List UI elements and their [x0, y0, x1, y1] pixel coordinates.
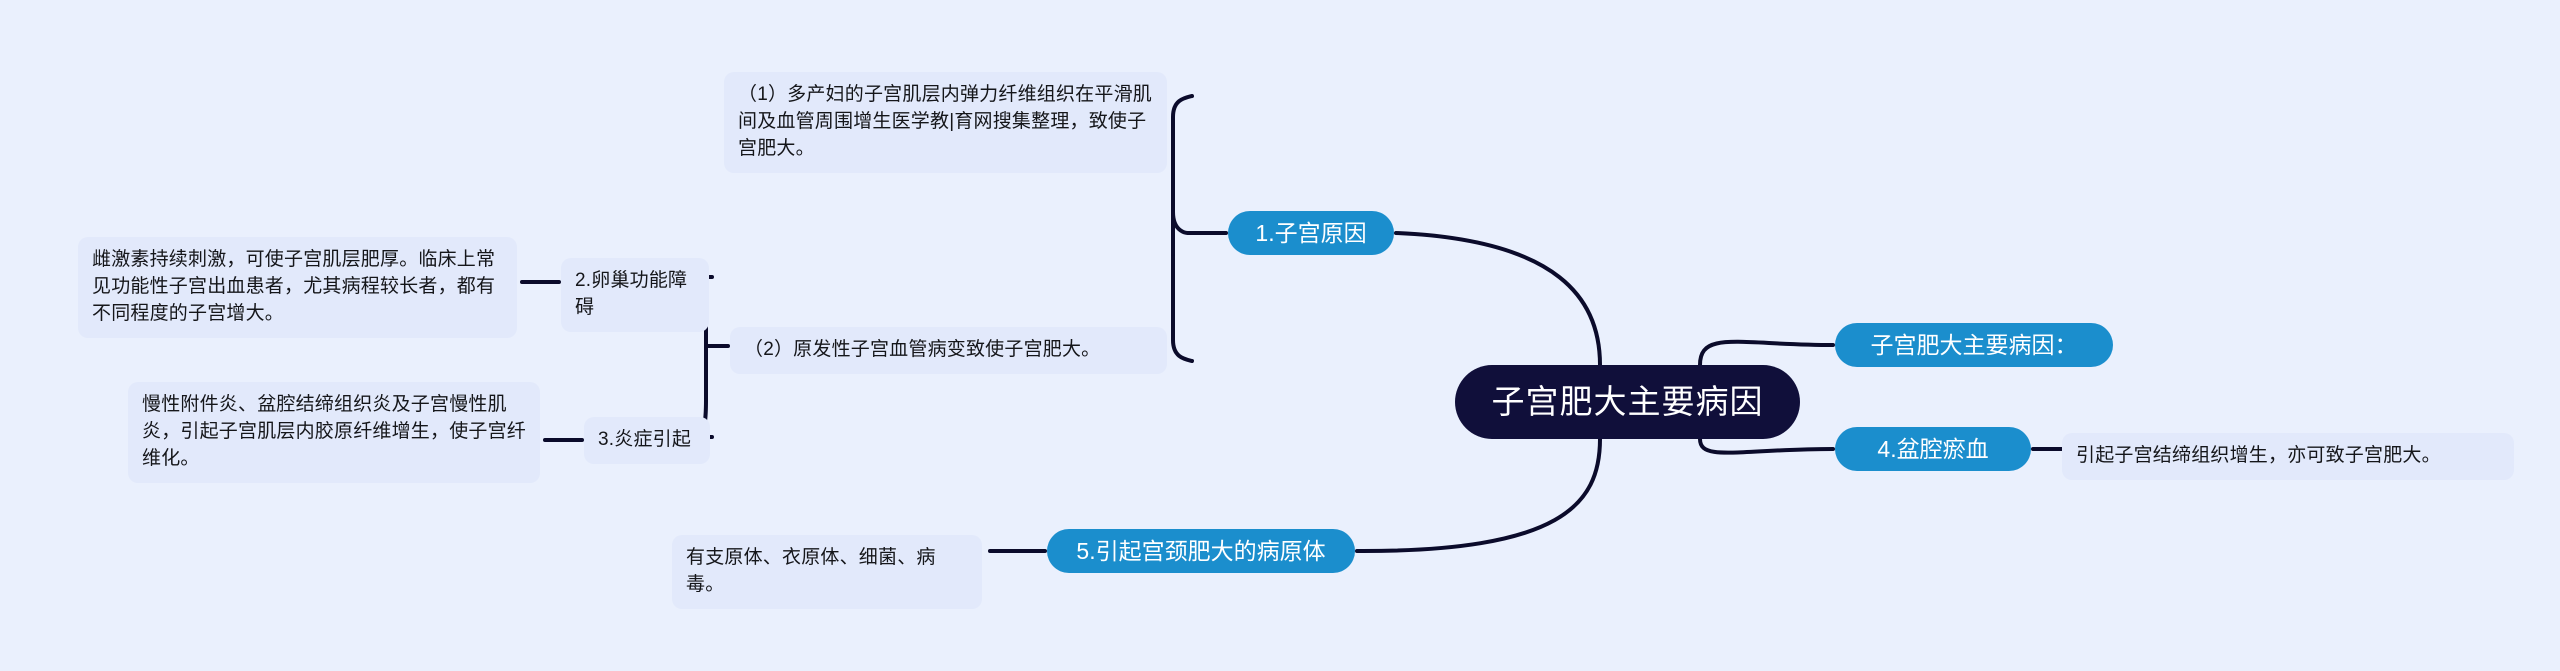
branch-node-pathogen[interactable]: 5.引起宫颈肥大的病原体 — [1047, 529, 1355, 573]
leaf-node-uterus-sub-1[interactable]: （1）多产妇的子宫肌层内弹力纤维组织在平滑肌间及血管周围增生医学教|育网搜集整理… — [724, 72, 1167, 173]
leaf-node-ovary-detail[interactable]: 雌激素持续刺激，可使子宫肌层肥厚。临床上常见功能性子宫出血患者，尤其病程较长者，… — [78, 237, 517, 338]
branch-node-pelvic-congestion[interactable]: 4.盆腔瘀血 — [1835, 427, 2031, 471]
branch-node-ovary-dysfunction[interactable]: 2.卵巢功能障碍 — [561, 258, 709, 332]
leaf-node-pelvic-detail[interactable]: 引起子宫结缔组织增生，亦可致子宫肥大。 — [2062, 433, 2514, 480]
branch-node-inflammation[interactable]: 3.炎症引起 — [584, 417, 710, 464]
link-root-to-uterus-cause — [1396, 233, 1600, 365]
link-root-to-cause-header — [1700, 342, 1833, 365]
leaf-node-inflammation-detail[interactable]: 慢性附件炎、盆腔结缔组织炎及子宫慢性肌炎，引起子宫肌层内胶原纤维增生，使子宫纤维… — [128, 382, 540, 483]
leaf-node-pathogen-detail[interactable]: 有支原体、衣原体、细菌、病毒。 — [672, 535, 982, 609]
branch-node-uterus-cause[interactable]: 1.子宫原因 — [1228, 211, 1394, 255]
mindmap-canvas: 子宫肥大主要病因 子宫肥大主要病因： 4.盆腔瘀血 引起子宫结缔组织增生，亦可致… — [0, 0, 2560, 671]
leaf-node-uterus-sub-2[interactable]: （2）原发性子宫血管病变致使子宫肥大。 — [730, 327, 1167, 374]
link-uterus-brace — [1173, 96, 1192, 233]
link-uterus-brace-lower — [1173, 254, 1192, 361]
branch-node-cause-header[interactable]: 子宫肥大主要病因： — [1835, 323, 2113, 367]
root-node[interactable]: 子宫肥大主要病因 — [1455, 365, 1800, 439]
link-root-to-pelvic — [1700, 439, 1833, 453]
link-root-to-pathogen — [1357, 439, 1600, 551]
